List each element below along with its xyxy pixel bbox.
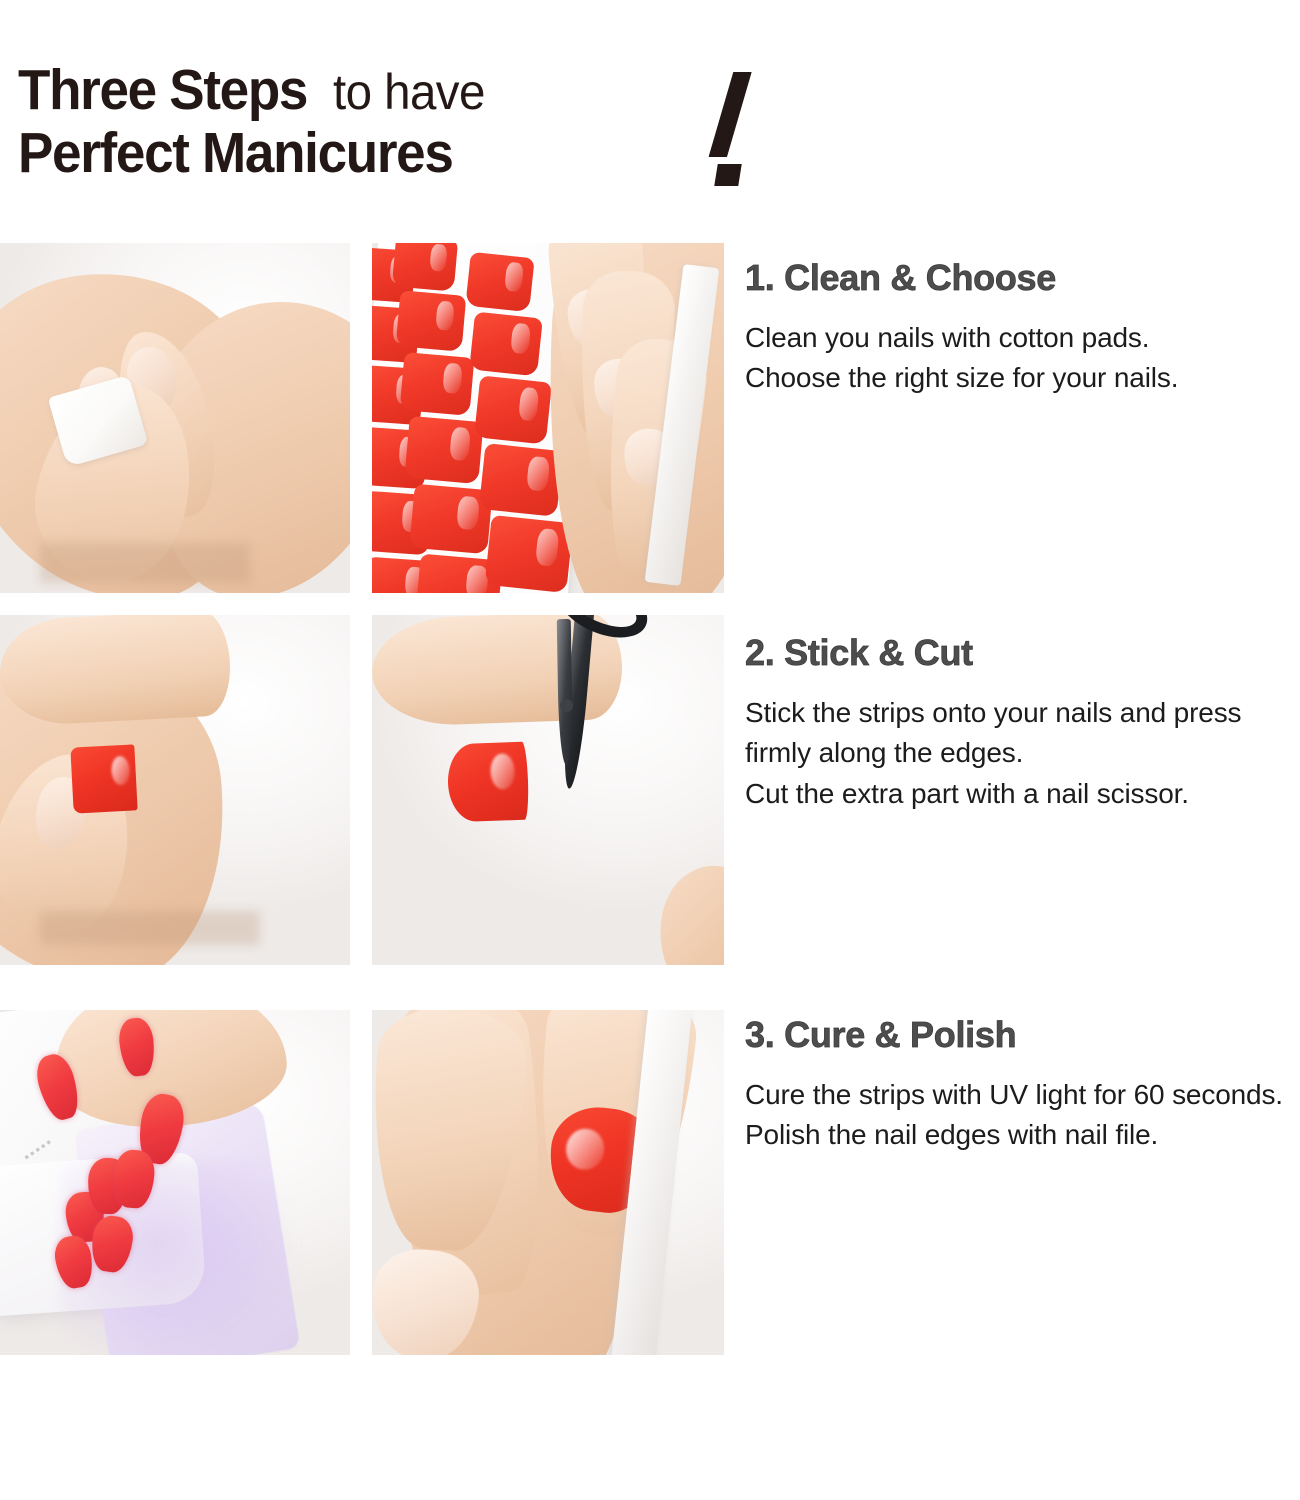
step-3-line-2: Polish the nail edges with nail file.	[745, 1115, 1297, 1156]
title-strong-1: Three Steps	[18, 62, 307, 119]
nail-strip	[400, 352, 475, 416]
exclamation-dot	[714, 164, 741, 186]
step-2-heading: 2. Stick & Cut	[745, 633, 1297, 673]
step-2: 2. Stick & Cut Stick the strips onto you…	[745, 633, 1297, 815]
step-2-line-2: Cut the extra part with a nail scissor.	[745, 774, 1297, 815]
step-1-body: Clean you nails with cotton pads. Choose…	[745, 318, 1297, 400]
nail-strip	[396, 290, 467, 352]
nail-strip	[465, 252, 534, 312]
exclamation-mark-icon	[706, 72, 768, 190]
photo-step1-clean	[0, 243, 350, 593]
exclamation-stem	[709, 72, 752, 157]
photo-step3-cure: ▪▪▪▪▪	[0, 1010, 350, 1355]
applied-red-strip	[70, 744, 137, 813]
photo-step2-stick	[0, 615, 350, 965]
nail-strip	[392, 243, 458, 292]
title-line-2: Perfect Manicures	[18, 125, 485, 182]
finger-with-strip	[0, 615, 233, 727]
nail-strip	[469, 312, 543, 377]
step-3-body: Cure the strips with UV light for 60 sec…	[745, 1075, 1297, 1157]
photo-grid: ▪▪▪▪▪	[0, 243, 724, 1355]
nail-strip	[485, 515, 574, 593]
title-light-1: to have	[333, 67, 485, 117]
nail-strip	[404, 416, 483, 484]
photo-step1-choose	[372, 243, 724, 593]
step-1-line-2: Choose the right size for your nails.	[745, 358, 1297, 399]
photo-step3-polish	[372, 1010, 724, 1355]
red-strip-excess	[447, 742, 530, 823]
scissor-pivot	[560, 699, 573, 712]
step-1-line-1: Clean you nails with cotton pads.	[745, 318, 1297, 359]
photo-step2-cut	[372, 615, 724, 965]
page-title: Three Stepsto have Perfect Manicures	[18, 62, 778, 207]
step-3-line-1: Cure the strips with UV light for 60 sec…	[745, 1075, 1297, 1116]
step-3: 3. Cure & Polish Cure the strips with UV…	[745, 1015, 1297, 1156]
shadow	[40, 911, 260, 945]
title-line-1: Three Stepsto have	[18, 62, 493, 119]
nail-strip	[479, 443, 563, 517]
nail-strip	[474, 375, 552, 444]
step-3-heading: 3. Cure & Polish	[745, 1015, 1297, 1055]
manicure-instruction-infographic: Three Stepsto have Perfect Manicures	[0, 0, 1300, 1500]
step-2-body: Stick the strips onto your nails and pre…	[745, 693, 1297, 816]
shadow	[40, 543, 250, 583]
title-strong-2: Perfect Manicures	[18, 125, 453, 182]
step-1-heading: 1. Clean & Choose	[745, 258, 1297, 298]
step-1: 1. Clean & Choose Clean you nails with c…	[745, 258, 1297, 399]
step-2-line-1: Stick the strips onto your nails and pre…	[745, 693, 1297, 775]
